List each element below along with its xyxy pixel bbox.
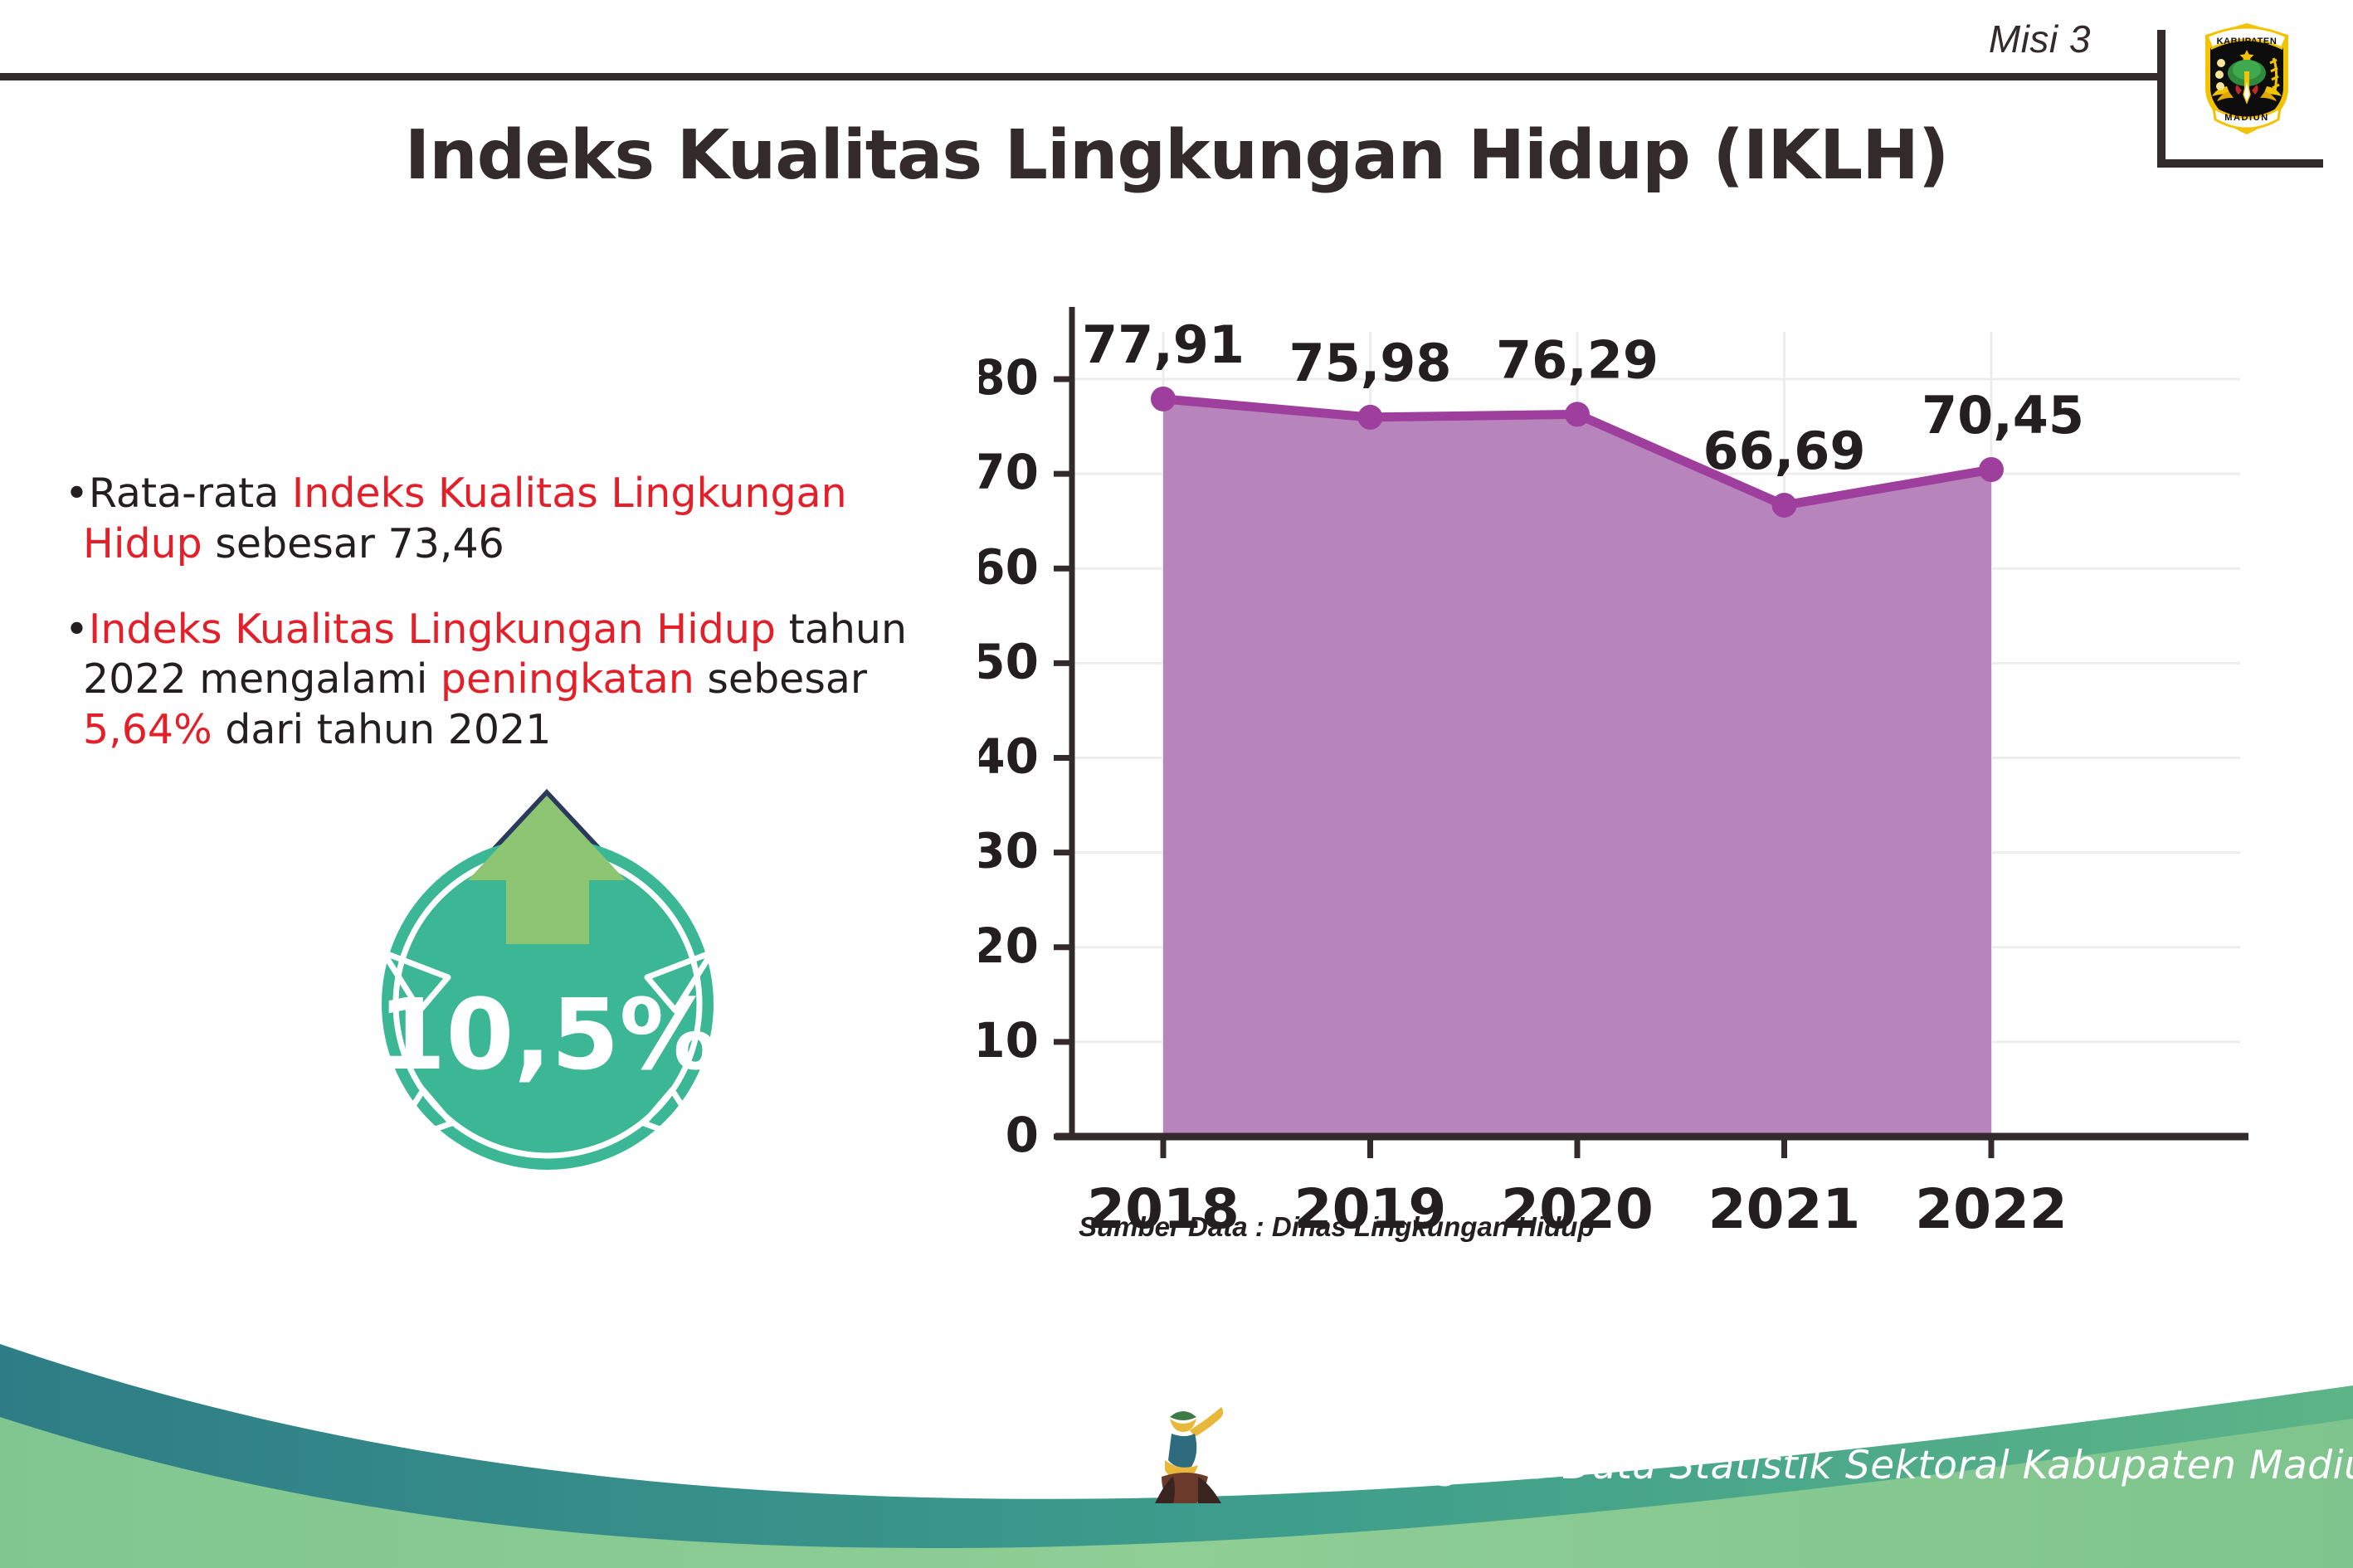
data-label: 66,69 xyxy=(1703,421,1865,481)
source-note: Sumber Data : Dinas Lingkungan Hidup xyxy=(1079,1211,1595,1243)
chart-area-fill xyxy=(1163,399,1991,1137)
highlighted-phrase: Indeks Kualitas Lingkungan Hidup xyxy=(89,606,776,653)
data-point-marker xyxy=(1151,387,1176,411)
data-label: 76,29 xyxy=(1496,329,1659,390)
chart-y-tick-labels: 01020304050607080 xyxy=(979,349,1039,1163)
page-title: Indeks Kualitas Lingkungan Hidup (IKLH) xyxy=(0,116,2353,195)
plain-phrase: Rata-rata xyxy=(89,470,292,517)
svg-text:KABUPATEN: KABUPATEN xyxy=(2217,37,2277,46)
badge-value: 10,5% xyxy=(378,977,717,1092)
data-point-marker xyxy=(1565,402,1590,426)
y-tick-label: 80 xyxy=(979,349,1039,406)
y-tick-label: 10 xyxy=(979,1012,1039,1069)
y-tick-label: 30 xyxy=(979,823,1039,879)
list-item: •Rata-rata Indeks Kualitas Lingkungan Hi… xyxy=(65,469,944,570)
x-tick-label: 2021 xyxy=(1708,1177,1861,1241)
data-point-marker xyxy=(1358,405,1383,430)
y-tick-label: 20 xyxy=(979,918,1039,974)
bullet-text-0: Rata-rata Indeks Kualitas Lingkungan Hid… xyxy=(83,470,847,567)
iklh-area-chart: 01020304050607080 20182019202020212022 7… xyxy=(979,282,2273,1261)
plain-phrase: sebesar xyxy=(694,655,867,703)
highlighted-phrase: peningkatan xyxy=(441,655,694,703)
infographic-slide: Misi 3 KABUPATEN xyxy=(0,0,2353,1568)
plain-phrase: sebesar 73,46 xyxy=(202,520,504,567)
data-point-marker xyxy=(1772,493,1797,518)
y-tick-label: 50 xyxy=(979,633,1039,689)
dancer-figure-logo-icon xyxy=(1147,1400,1243,1508)
header-divider-line xyxy=(0,73,2164,80)
bullet-dot: • xyxy=(65,606,89,653)
y-tick-label: 70 xyxy=(979,444,1039,500)
y-tick-label: 40 xyxy=(979,728,1039,785)
data-point-marker xyxy=(1979,457,2004,482)
highlighted-phrase: 5,64% xyxy=(83,706,212,753)
footer-text: Media Infografis Data Statistik Sektoral… xyxy=(1230,1443,2353,1488)
data-label: 77,91 xyxy=(1082,314,1245,375)
misi-label: Misi 3 xyxy=(1989,17,2091,61)
y-tick-label: 0 xyxy=(1006,1107,1039,1163)
data-label: 70,45 xyxy=(1922,385,2084,446)
x-tick-label: 2022 xyxy=(1915,1177,2068,1241)
data-label: 75,98 xyxy=(1289,333,1451,393)
area-fill xyxy=(1163,399,1991,1137)
y-tick-label: 60 xyxy=(979,538,1039,595)
increase-badge: 10,5% xyxy=(290,722,805,1220)
bullet-dot: • xyxy=(65,470,89,517)
